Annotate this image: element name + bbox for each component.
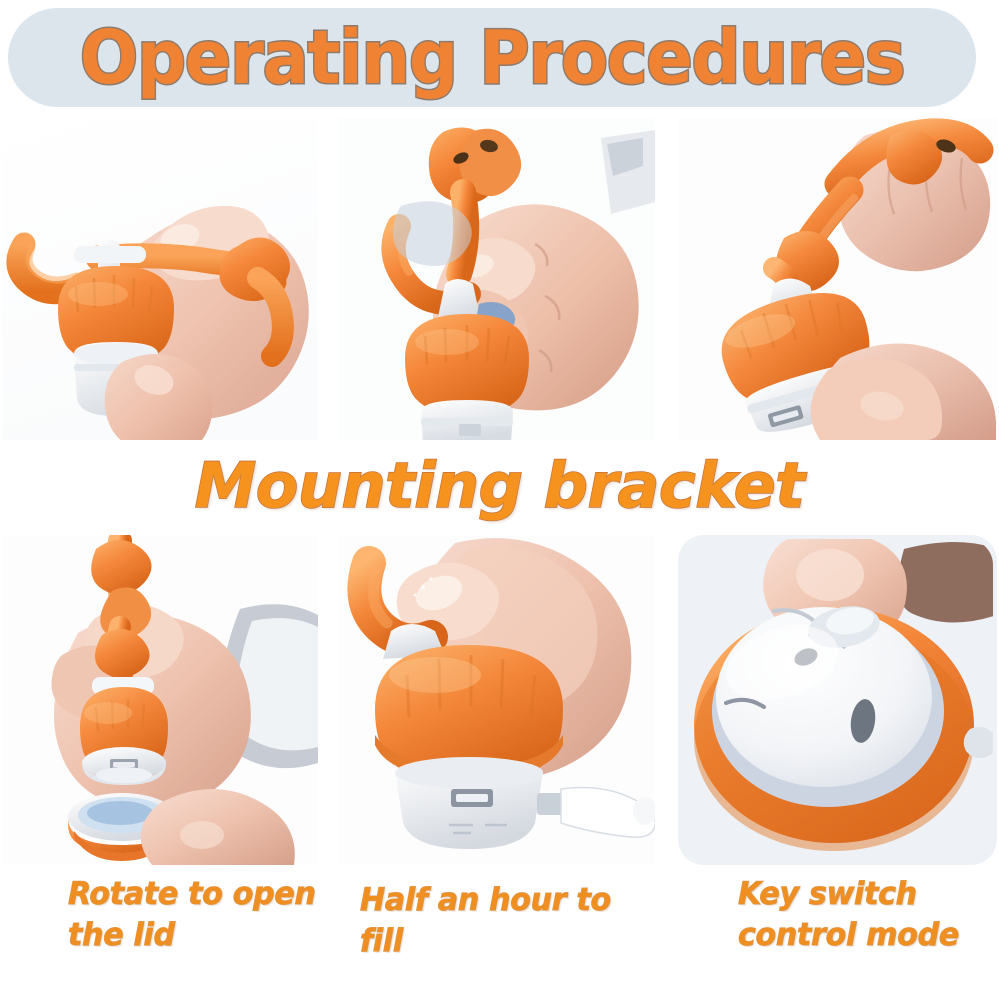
product-illustration-3 — [678, 118, 997, 440]
caption-key-switch: Key switch control mode — [738, 874, 992, 956]
caption-line: control mode — [738, 915, 992, 956]
steps-row-one — [0, 118, 999, 440]
caption-line: Rotate to open — [68, 874, 322, 915]
product-illustration-4 — [2, 535, 318, 865]
caption-line: the lid — [68, 915, 322, 956]
caption-fill-time: Half an hour to fill — [360, 880, 661, 962]
step-photo-6 — [678, 535, 997, 865]
product-illustration-2 — [339, 118, 655, 440]
step-photo-4 — [2, 535, 318, 865]
product-illustration-5 — [339, 535, 655, 865]
step-photo-3 — [678, 118, 997, 440]
section-heading-mounting-bracket: Mounting bracket — [0, 440, 999, 530]
page-title: Operating Procedures — [42, 8, 942, 107]
step-photo-5 — [339, 535, 655, 865]
step-photo-1 — [2, 118, 318, 440]
title-banner: Operating Procedures — [8, 8, 976, 107]
product-illustration-1 — [2, 118, 318, 440]
caption-line: Key switch — [738, 874, 992, 915]
step-captions: Rotate to open the lid Half an hour to f… — [0, 866, 999, 988]
step-photo-2 — [339, 118, 655, 440]
caption-line: Half an hour to fill — [360, 880, 661, 962]
steps-row-two — [0, 535, 999, 865]
caption-rotate-lid: Rotate to open the lid — [68, 874, 322, 956]
infographic-root: Operating Procedures — [0, 0, 999, 988]
product-illustration-6 — [678, 535, 997, 865]
